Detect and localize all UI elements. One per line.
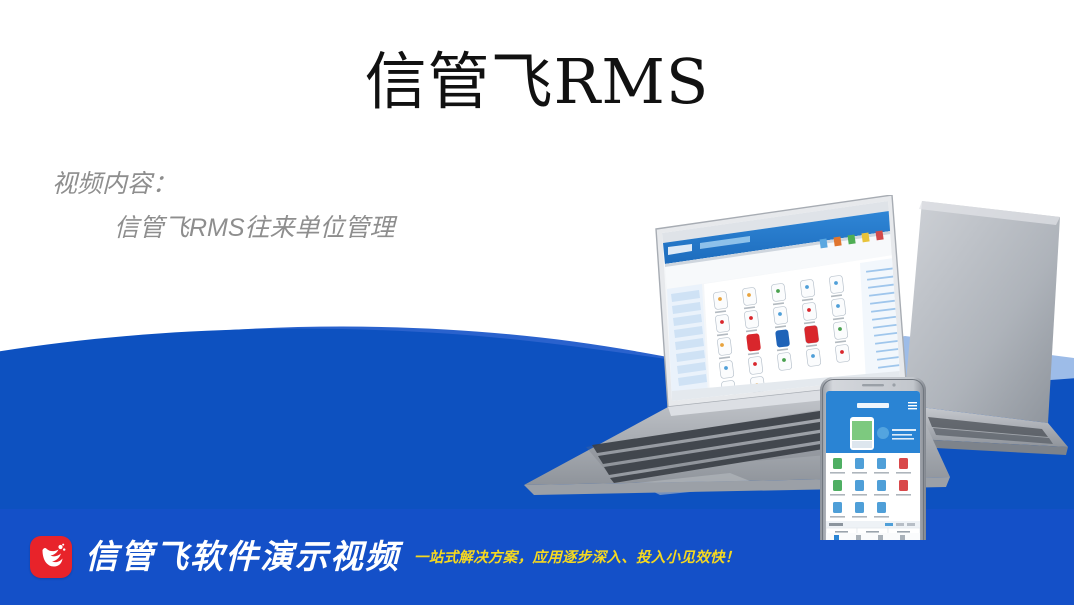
- subtitle-topic: 信管飞RMS往来单位管理: [52, 206, 395, 250]
- devices-illustration: [430, 195, 1074, 540]
- subtitle-label: 视频内容：: [52, 162, 395, 206]
- laptop-back-closed-lid: [904, 201, 1068, 455]
- banner-title: 信管飞软件演示视频: [85, 538, 400, 576]
- hamburger-icon: [908, 402, 917, 409]
- presentation-slide: 信管飞RMS 视频内容： 信管飞RMS往来单位管理: [0, 0, 1074, 605]
- page-title: 信管飞RMS: [0, 46, 1074, 118]
- banner-tagline: 一站式解决方案，应用逐步深入、投入小见效快！: [414, 546, 740, 569]
- subtitle-block: 视频内容： 信管飞RMS往来单位管理: [52, 162, 395, 250]
- bottom-banner: 信管飞软件演示视频 一站式解决方案，应用逐步深入、投入小见效快！: [0, 509, 1074, 605]
- xinguanfei-bird-logo-icon: [30, 536, 72, 578]
